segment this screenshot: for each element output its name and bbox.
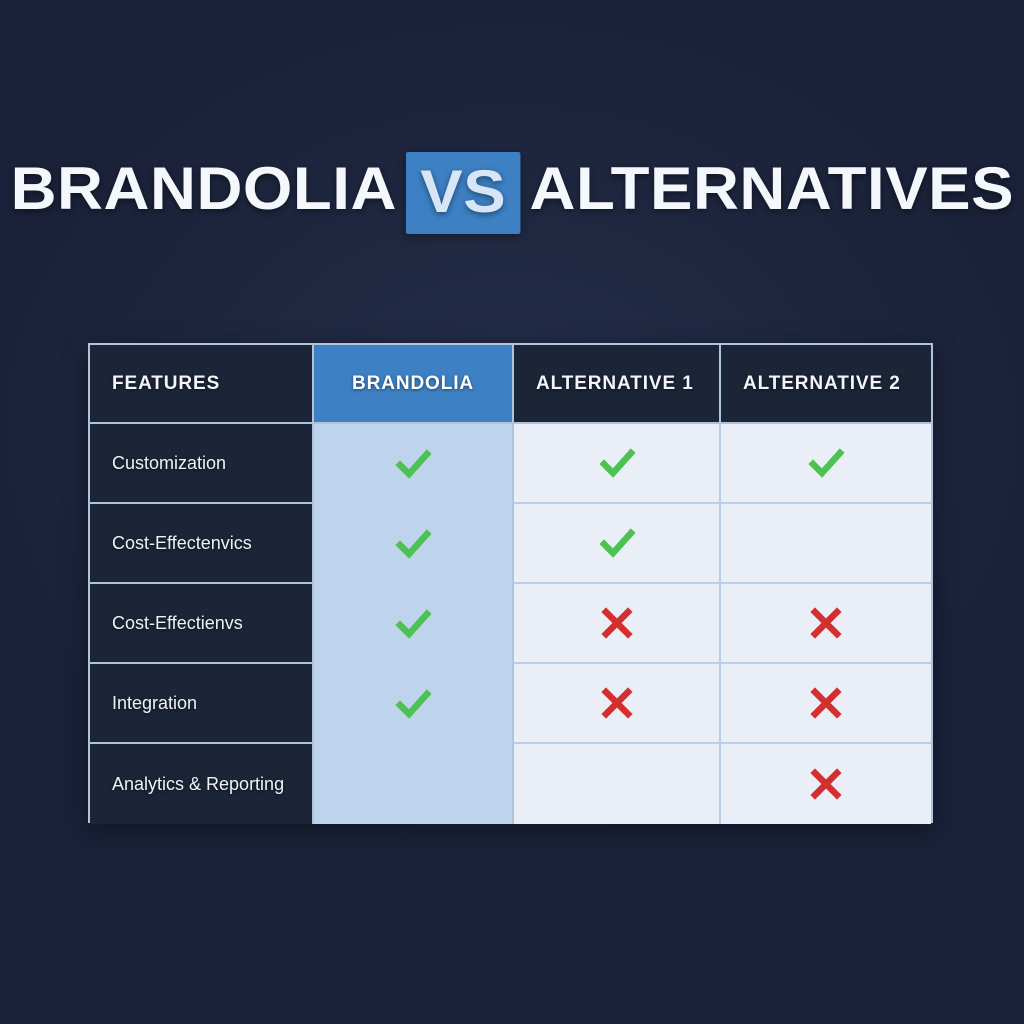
- cross-icon: [806, 683, 846, 723]
- row-label: Customization: [90, 424, 314, 504]
- cross-icon: [806, 603, 846, 643]
- title-brand-text: BRANDOLIA: [10, 152, 396, 226]
- row-label: Integration: [90, 664, 314, 744]
- table-row: Integration: [90, 664, 931, 744]
- check-icon: [393, 604, 433, 644]
- cell-brandolia: [314, 504, 514, 584]
- cell-brandolia: [314, 664, 514, 744]
- cell-brandolia: [314, 744, 514, 824]
- empty-mark: [806, 523, 846, 563]
- cross-icon: [806, 764, 846, 804]
- cell-alternative-2: [721, 744, 931, 824]
- cell-alternative-2: [721, 424, 931, 504]
- column-header-features: FEATURES: [90, 345, 314, 424]
- table-header-row: FEATURES BRANDOLIA ALTERNATIVE 1 ALTERNA…: [90, 345, 931, 424]
- comparison-table: FEATURES BRANDOLIA ALTERNATIVE 1 ALTERNA…: [88, 343, 933, 823]
- cell-alternative-1: [514, 504, 721, 584]
- row-label: Cost-Effectenvics: [90, 504, 314, 584]
- cell-alternative-1: [514, 664, 721, 744]
- table-row: Cost-Effectenvics: [90, 504, 931, 584]
- check-icon: [393, 524, 433, 564]
- cross-icon: [597, 683, 637, 723]
- empty-mark: [393, 764, 433, 804]
- check-icon: [393, 684, 433, 724]
- table-row: Cost-Effectienvs: [90, 584, 931, 664]
- check-icon: [393, 444, 433, 484]
- check-icon: [597, 523, 637, 563]
- cell-alternative-2: [721, 504, 931, 584]
- empty-mark: [597, 764, 637, 804]
- column-header-alternative-1: ALTERNATIVE 1: [514, 345, 721, 424]
- cell-brandolia: [314, 584, 514, 664]
- row-label: Cost-Effectienvs: [90, 584, 314, 664]
- table-row: Analytics & Reporting: [90, 744, 931, 824]
- check-icon: [597, 443, 637, 483]
- row-label: Analytics & Reporting: [90, 744, 314, 824]
- cell-alternative-2: [721, 584, 931, 664]
- title-vs-badge: VS: [406, 152, 519, 234]
- cell-brandolia: [314, 424, 514, 504]
- cell-alternative-1: [514, 584, 721, 664]
- cell-alternative-1: [514, 424, 721, 504]
- title-alternatives-text: ALTERNATIVES: [529, 152, 1014, 226]
- column-header-brandolia: BRANDOLIA: [314, 345, 514, 424]
- check-icon: [806, 443, 846, 483]
- cross-icon: [597, 603, 637, 643]
- column-header-alternative-2: ALTERNATIVE 2: [721, 345, 931, 424]
- cell-alternative-1: [514, 744, 721, 824]
- table-row: Customization: [90, 424, 931, 504]
- page-title: BRANDOLIAVSALTERNATIVES: [0, 152, 1024, 234]
- cell-alternative-2: [721, 664, 931, 744]
